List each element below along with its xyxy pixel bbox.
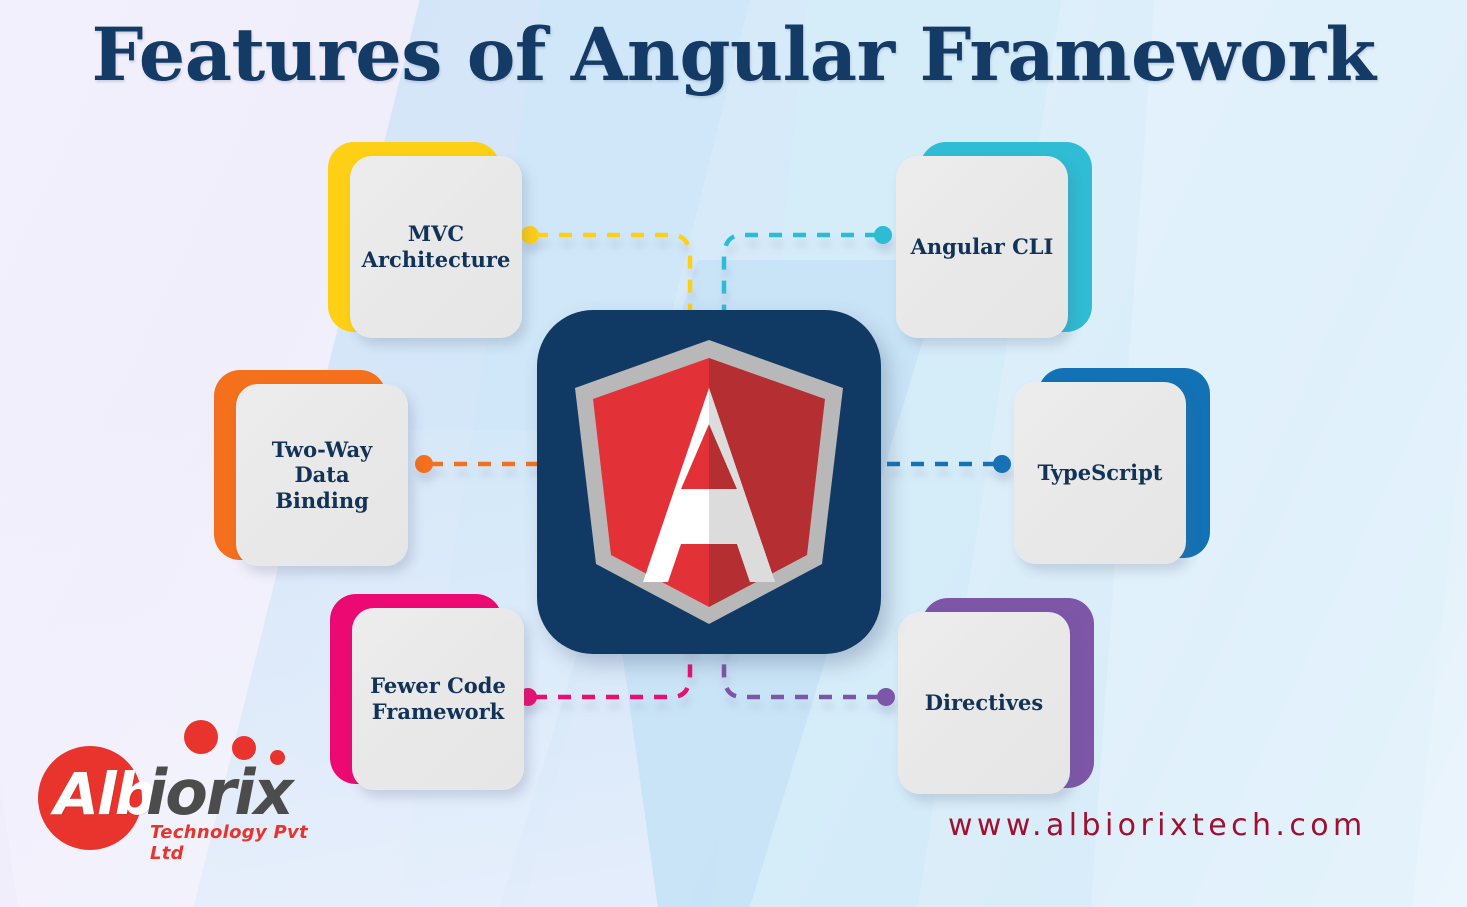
card-face: Angular CLI <box>896 156 1068 338</box>
connector-dot-directives <box>877 688 895 706</box>
connector-dot-two-way-data-binding <box>415 455 433 473</box>
feature-card-angular-cli[interactable]: Angular CLI <box>896 142 1092 340</box>
connector-dot-typescript <box>993 455 1011 473</box>
card-face: MVC Architecture <box>350 156 522 338</box>
card-face: Fewer Code Framework <box>352 608 524 790</box>
connector-dot-angular-cli <box>874 226 892 244</box>
feature-card-two-way-data-binding[interactable]: Two-Way Data Binding <box>214 370 410 568</box>
feature-label: Two-Way Data Binding <box>236 437 408 514</box>
feature-label: TypeScript <box>1030 460 1171 486</box>
logo-tagline: Technology Pvt Ltd <box>150 822 328 864</box>
card-face: TypeScript <box>1014 382 1186 564</box>
logo-dot-large <box>184 720 218 754</box>
infographic-canvas: Features of Angular Framework <box>0 0 1467 907</box>
website-url[interactable]: www.albiorixtech.com <box>948 808 1367 843</box>
feature-card-mvc-architecture[interactable]: MVC Architecture <box>328 142 524 340</box>
albiorix-logo: Alb iorix Technology Pvt Ltd <box>28 716 328 856</box>
feature-label: Fewer Code Framework <box>362 673 514 724</box>
card-face: Two-Way Data Binding <box>236 384 408 566</box>
angular-logo-tile <box>537 310 881 654</box>
feature-label: Directives <box>917 690 1051 716</box>
logo-text-iorix: iorix <box>146 756 292 829</box>
angular-shield-icon <box>569 336 849 628</box>
feature-card-typescript[interactable]: TypeScript <box>1014 368 1210 566</box>
feature-card-fewer-code-framework[interactable]: Fewer Code Framework <box>330 594 526 792</box>
feature-label: Angular CLI <box>903 234 1062 260</box>
feature-label: MVC Architecture <box>354 221 519 272</box>
feature-card-directives[interactable]: Directives <box>898 598 1094 796</box>
card-face: Directives <box>898 612 1070 794</box>
logo-text-alb: Alb <box>54 760 154 828</box>
